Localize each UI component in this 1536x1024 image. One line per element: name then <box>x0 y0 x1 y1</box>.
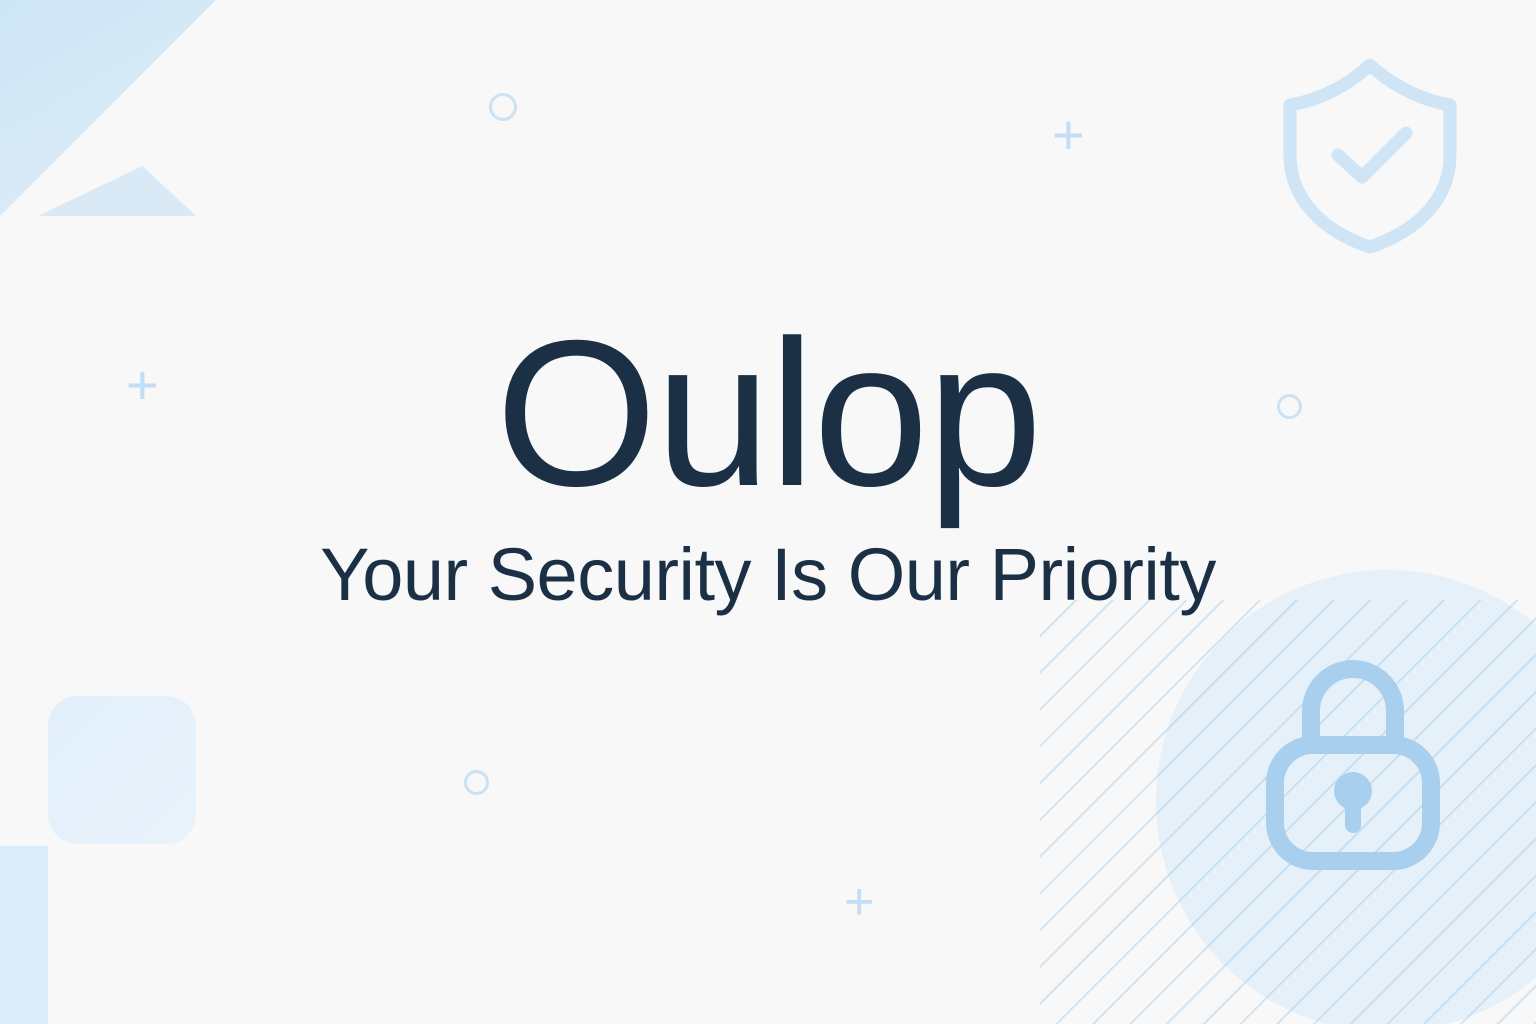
brand-content: Oulop Your Security Is Our Priority <box>0 0 1536 1024</box>
brand-banner: + + + Oulop Your Security Is Our Priorit… <box>0 0 1536 1024</box>
page-title: Oulop <box>495 310 1040 518</box>
page-tagline: Your Security Is Our Priority <box>320 538 1216 612</box>
